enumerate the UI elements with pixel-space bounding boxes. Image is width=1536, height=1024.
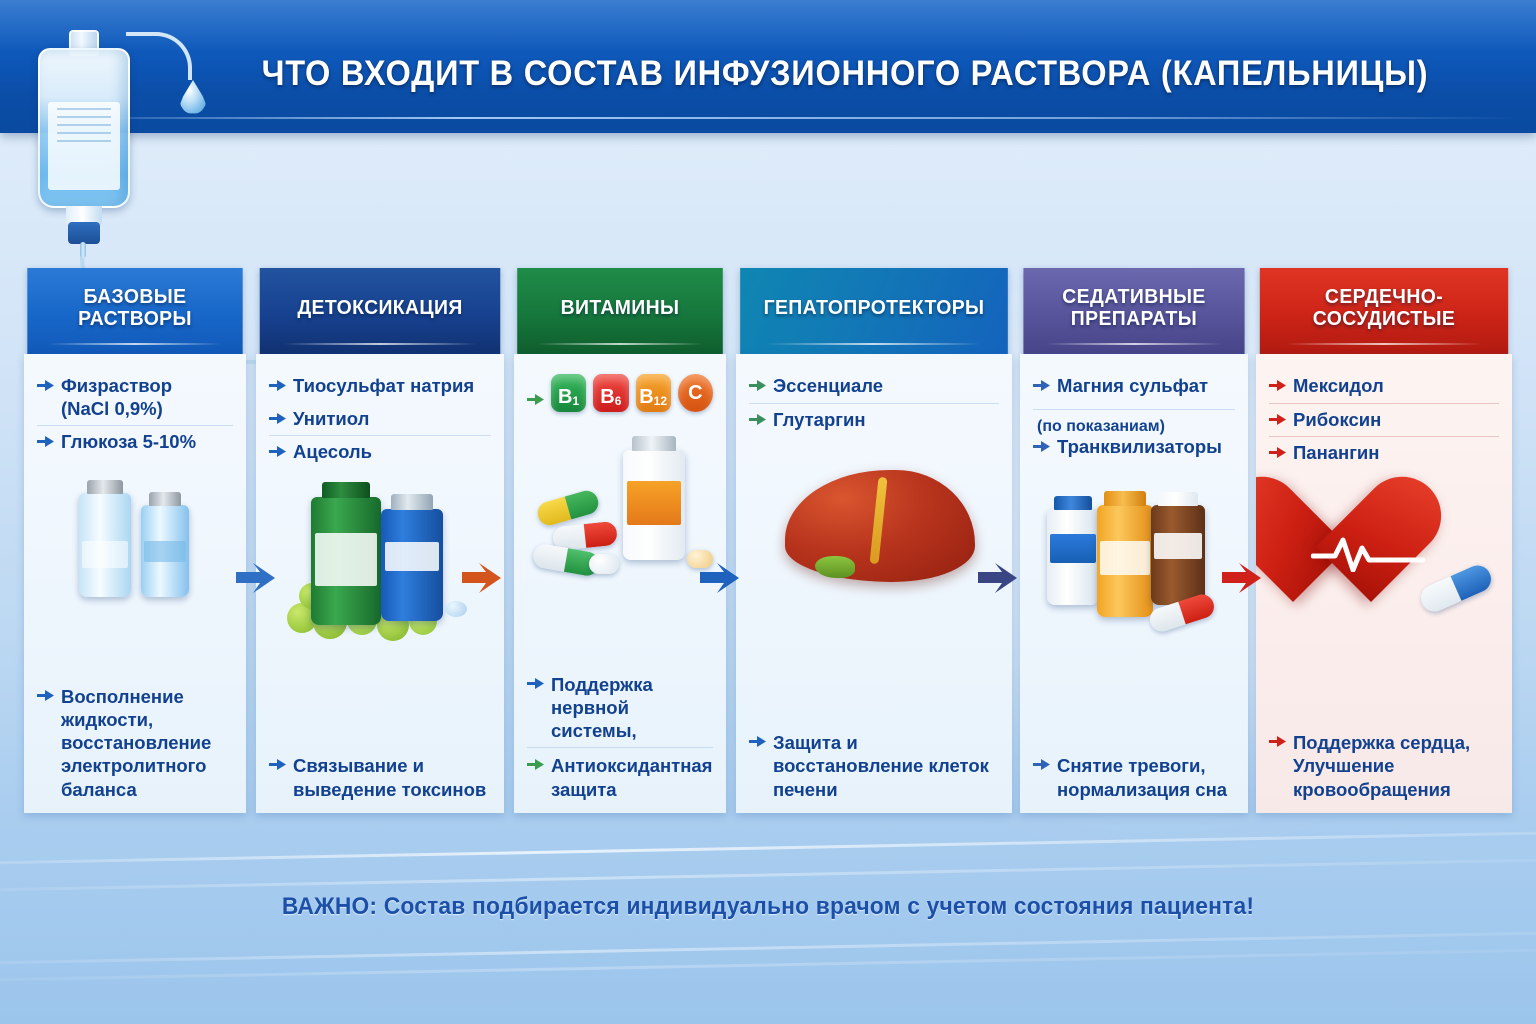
arrow-bullet-icon [1269, 734, 1286, 749]
connector-arrow-5 [1222, 561, 1278, 595]
background-streak [0, 853, 1536, 894]
benefit-item: Связывание и выведение токсинов [269, 748, 491, 801]
arrow-bullet-icon [527, 676, 544, 691]
vitamin-badge-b12[interactable]: B12 [636, 374, 671, 412]
vial-label [144, 541, 186, 561]
column-title-line2: ПРЕПАРАТЫ [1071, 308, 1197, 330]
list-item[interactable]: Ацесоль [269, 435, 491, 469]
benefit-label: Снятие тревоги, нормализация сна [1057, 754, 1235, 801]
drip-hook-icon [126, 32, 192, 80]
connector-arrow-3 [700, 561, 756, 595]
spacer [269, 645, 491, 749]
arrow-bullet-icon [749, 412, 766, 427]
vial-label [82, 541, 128, 568]
spacer [37, 605, 233, 679]
item-label: Физраствор [61, 375, 172, 396]
list-item[interactable]: Транквилизаторы [1033, 436, 1235, 464]
vial-cap [87, 480, 123, 494]
infographic-poster: ЧТО ВХОДИТ В СОСТАВ ИНФУЗИОННОГО РАСТВОР… [0, 0, 1536, 1024]
bottle-label [1154, 533, 1202, 559]
liver-shape [785, 470, 975, 582]
column-title-line1: ГЕПАТОПРОТЕКТОРЫ [764, 297, 985, 319]
column-body-vitamins: B1 B6 B12 C [514, 354, 726, 813]
connector-arrow-1 [236, 561, 292, 595]
column-header-cardiovascular: СЕРДЕЧНО- СОСУДИСТЫЕ [1260, 268, 1508, 354]
column-title-line1: СЕРДЕЧНО- [1325, 286, 1443, 308]
list-item[interactable]: Панангин [1269, 436, 1499, 470]
bottle-cap [1158, 492, 1198, 506]
benefit-item: Снятие тревоги, нормализация сна [1033, 748, 1235, 801]
vial-cap [149, 492, 181, 506]
background-streak [0, 826, 1536, 867]
arrow-bullet-icon [749, 378, 766, 393]
heart-with-ecg-icon [1269, 474, 1499, 624]
benefit-label: Защита и восстановление клеток печени [773, 731, 999, 801]
bottle-label [627, 481, 682, 525]
arrow-bullet-icon [749, 734, 766, 749]
arrow-bullet-icon [37, 434, 54, 449]
arrow-bullet-icon [1033, 439, 1050, 454]
tablet-pill [589, 554, 619, 574]
column-body-sedatives: Магния сульфат (по показаниам) Транквили… [1020, 354, 1248, 813]
liver-icon [749, 440, 999, 590]
column-cardiovascular[interactable]: СЕРДЕЧНО- СОСУДИСТЫЕ Мексидол [1256, 268, 1512, 813]
background-streak [0, 943, 1536, 984]
vitamin-badge-b6[interactable]: B6 [593, 374, 628, 412]
bottle-label [385, 542, 440, 571]
bottle-cap [1054, 496, 1092, 510]
arrow-bullet-icon [269, 444, 286, 459]
item-list: Эссенциале Глутаргин [749, 370, 999, 436]
vitamin-badge-c[interactable]: C [678, 374, 713, 412]
vitamin-badge-sub: 6 [615, 395, 622, 407]
arrow-bullet-icon [1033, 378, 1050, 393]
list-item[interactable]: Тиосульфат натрия [269, 370, 491, 403]
ecg-line-icon [1311, 532, 1427, 572]
vitamin-badge-sub: 12 [654, 395, 667, 407]
column-body-base-solutions: Физраствор (NaCl 0,9%) Глюкоза 5-10% [24, 354, 246, 813]
column-title-line1: ВИТАМИНЫ [561, 297, 680, 319]
item-list: Тиосульфат натрия Унитиол Ацесоль [269, 370, 491, 469]
connector-arrow-2 [462, 561, 518, 595]
item-label: Магния сульфат [1057, 375, 1208, 398]
item-list: Магния сульфат (по показаниам) Транквили… [1033, 370, 1235, 463]
arrow-bullet-icon [269, 757, 286, 772]
bottle-cap [322, 482, 370, 498]
column-header-hepatoprotectors: ГЕПАТОПРОТЕКТОРЫ [740, 268, 1008, 354]
green-and-blue-bottles-icon [269, 473, 491, 643]
vitamin-badge-row: B1 B6 B12 C [527, 370, 713, 414]
bottle-cap [632, 436, 676, 451]
connector-arrow-4 [978, 561, 1034, 595]
column-header-vitamins: ВИТАМИНЫ [517, 268, 723, 354]
arrow-bullet-icon [269, 378, 286, 393]
bottle-cap [391, 494, 433, 510]
spacer [527, 580, 713, 667]
indication-note: (по показаниам) [1033, 409, 1235, 436]
benefit-item: Восполнение жидкости, восстановление эле… [37, 679, 233, 801]
arrow-bullet-icon [527, 392, 544, 407]
column-title-line2: РАСТВОРЫ [78, 308, 192, 330]
list-item[interactable]: Глутаргин [749, 403, 999, 437]
bottle-label [315, 533, 377, 587]
list-item[interactable]: Физраствор (NaCl 0,9%) [37, 370, 233, 425]
bag-tube [80, 242, 86, 258]
category-columns: БАЗОВЫЕ РАСТВОРЫ Физраствор (NaCl 0,9%) [0, 268, 1536, 828]
vitamin-badge-b1[interactable]: B1 [551, 374, 586, 412]
vitamin-badge-letter: C [688, 383, 702, 403]
arrow-bullet-icon [269, 411, 286, 426]
green-bottle [311, 497, 381, 625]
item-label: Мексидол [1293, 375, 1384, 398]
two-glass-vials-icon [37, 463, 233, 603]
benefit-label: Поддержка нервной системы, [551, 673, 713, 743]
item-label: Транквилизаторы [1057, 436, 1222, 459]
bag-clamp [68, 222, 100, 244]
column-header-sedatives: СЕДАТИВНЫЕ ПРЕПАРАТЫ [1023, 268, 1244, 354]
column-base-solutions[interactable]: БАЗОВЫЕ РАСТВОРЫ Физраствор (NaCl 0,9%) [24, 268, 246, 813]
column-vitamins[interactable]: ВИТАМИНЫ B1 B6 B12 [514, 268, 726, 813]
benefit-item: Поддержка нервной системы, [527, 667, 713, 743]
column-body-cardiovascular: Мексидол Рибоксин Панангин [1256, 354, 1512, 813]
blue-bottle [381, 509, 443, 621]
arrow-bullet-icon [1269, 378, 1286, 393]
background-streak [0, 926, 1536, 967]
capsules-and-pill-bottle-icon [527, 418, 713, 578]
list-item[interactable]: Рибоксин [1269, 403, 1499, 437]
bottle-label [1050, 534, 1096, 563]
item-label-2: (NaCl 0,9%) [61, 398, 163, 419]
bottle-cap [1104, 491, 1146, 506]
bottle-label [1100, 541, 1149, 575]
benefit-label: Восполнение жидкости, восстановление эле… [61, 685, 233, 801]
item-label: Унитиол [293, 408, 369, 431]
vial-left [79, 493, 131, 597]
item-label: Рибоксин [1293, 409, 1381, 432]
orange-bottle [1097, 505, 1153, 617]
arrow-bullet-icon [527, 757, 544, 772]
capsule-yellow-green [535, 488, 601, 528]
list-item[interactable]: Магния сульфат [1033, 370, 1235, 403]
list-item[interactable]: Эссенциале [749, 370, 999, 403]
vitamin-badge-letter: B [639, 387, 653, 407]
column-sedatives[interactable]: СЕДАТИВНЫЕ ПРЕПАРАТЫ Магния сульфат (по … [1020, 268, 1248, 813]
vial-right [141, 505, 189, 597]
column-title-line1: СЕДАТИВНЫЕ [1062, 286, 1205, 308]
important-note: ВАЖНО: Состав подбирается индивидуально … [38, 893, 1497, 921]
vitamin-badge-letter: B [558, 387, 572, 407]
arrow-bullet-icon [37, 378, 54, 393]
column-title-line2: СОСУДИСТЫЕ [1313, 308, 1455, 330]
item-label: Глутаргин [773, 409, 866, 432]
arrow-bullet-icon [37, 688, 54, 703]
column-title-line1: БАЗОВЫЕ [84, 286, 187, 308]
iv-drip-bag-icon [22, 10, 197, 260]
header-sheen [0, 0, 1536, 52]
item-label: Панангин [1293, 442, 1379, 465]
vitamin-badge-letter: B [600, 387, 614, 407]
benefit-label: Антиоксидантная защита [551, 754, 713, 801]
item-label: Ацесоль [293, 441, 372, 464]
arrow-bullet-icon [1269, 445, 1286, 460]
list-item[interactable]: Глюкоза 5-10% [37, 425, 233, 459]
column-hepatoprotectors[interactable]: ГЕПАТОПРОТЕКТОРЫ Эссенциале Глутаргин [736, 268, 1012, 813]
brown-bottle [1151, 505, 1205, 605]
benefit-label: Связывание и выведение токсинов [293, 754, 491, 801]
item-list: Мексидол Рибоксин Панангин [1269, 370, 1499, 470]
spacer [749, 592, 999, 725]
benefit-label: Поддержка сердца, Улучшение кровообращен… [1293, 731, 1499, 801]
benefit-item: Защита и восстановление клеток печени [749, 725, 999, 801]
benefit-item: Антиоксидантная защита [527, 747, 713, 801]
column-header-detox: ДЕТОКСИКАЦИЯ [260, 268, 501, 354]
list-item[interactable]: Мексидол [1269, 370, 1499, 403]
bag-label [48, 102, 120, 190]
item-label: Эссенциале [773, 375, 883, 398]
list-item[interactable]: Унитиол [269, 403, 491, 436]
benefit-item: Поддержка сердца, Улучшение кровообращен… [1269, 725, 1499, 801]
column-body-hepatoprotectors: Эссенциале Глутаргин [736, 354, 1012, 813]
vitamin-badge-sub: 1 [573, 395, 580, 407]
blue-white-bottle [1047, 509, 1099, 605]
column-title-line1: ДЕТОКСИКАЦИЯ [297, 297, 462, 319]
column-detox[interactable]: ДЕТОКСИКАЦИЯ Тиосульфат натрия Унитиол [256, 268, 504, 813]
arrow-bullet-icon [1269, 412, 1286, 427]
item-label: Тиосульфат натрия [293, 375, 474, 398]
item-list: Физраствор (NaCl 0,9%) Глюкоза 5-10% [37, 370, 233, 459]
page-title: ЧТО ВХОДИТ В СОСТАВ ИНФУЗИОННОГО РАСТВОР… [245, 54, 1445, 94]
column-header-base-solutions: БАЗОВЫЕ РАСТВОРЫ [27, 268, 242, 354]
pill-bottle [623, 450, 685, 560]
spacer [1269, 626, 1499, 725]
item-label: Глюкоза 5-10% [61, 431, 196, 454]
spacer [1033, 629, 1235, 748]
gallbladder-shape [815, 556, 855, 578]
assorted-medicine-bottles-icon [1033, 467, 1235, 627]
tablet-blob [445, 601, 467, 617]
arrow-bullet-icon [1033, 757, 1050, 772]
